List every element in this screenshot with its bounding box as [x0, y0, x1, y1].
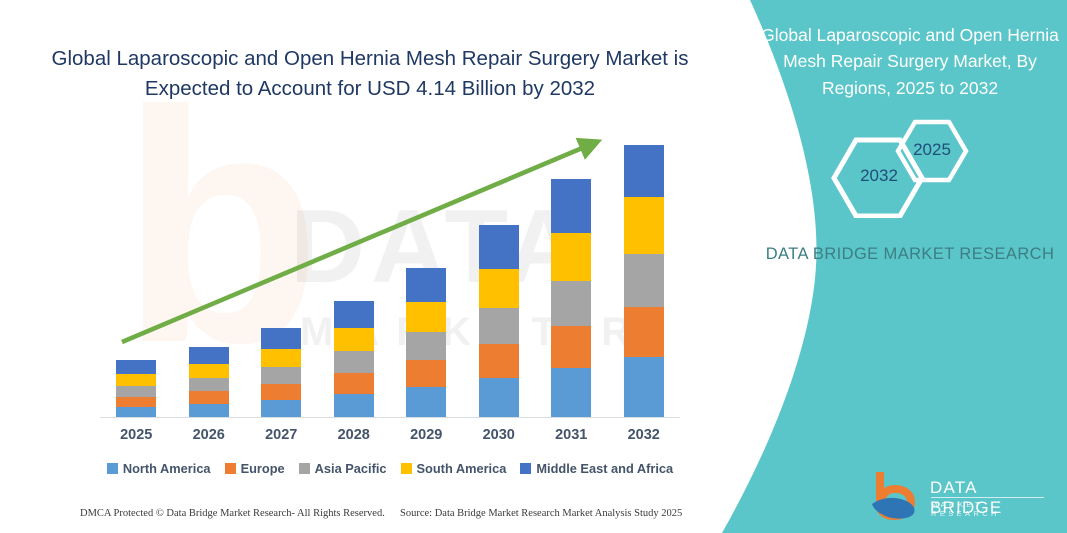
legend-swatch-icon [299, 463, 310, 474]
x-axis-tick-label: 2025 [100, 427, 172, 443]
x-axis-tick-label: 2030 [463, 427, 535, 443]
x-axis-tick-label: 2027 [245, 427, 317, 443]
legend-label: South America [417, 461, 507, 476]
x-axis-tick-label: 2028 [318, 427, 390, 443]
stacked-bar-plot [100, 120, 680, 418]
hexagon-shapes [810, 108, 1020, 218]
x-axis-tick-label: 2026 [173, 427, 245, 443]
legend-item[interactable]: Middle East and Africa [520, 461, 673, 476]
infographic-root: b DATA BRIDGE MARKET RESEARCH Global Lap… [0, 0, 1067, 533]
panel-brand-text: DATA BRIDGE MARKET RESEARCH [760, 242, 1060, 268]
legend-label: Middle East and Africa [536, 461, 673, 476]
hex-label-2025: 2025 [904, 140, 960, 160]
logo-subtitle: MARKET RESEARCH [931, 500, 1048, 518]
hex-label-2032: 2032 [850, 166, 908, 186]
footer-source: Source: Data Bridge Market Research Mark… [400, 508, 682, 519]
growth-arrow [100, 120, 680, 418]
logo-mark-icon [868, 472, 924, 522]
data-bridge-logo: DATA BRIDGE MARKET RESEARCH [868, 472, 1048, 524]
page-title: Global Laparoscopic and Open Hernia Mesh… [50, 44, 690, 103]
legend-swatch-icon [401, 463, 412, 474]
legend-item[interactable]: North America [107, 461, 211, 476]
legend-item[interactable]: Europe [225, 461, 285, 476]
x-axis-tick-label: 2032 [608, 427, 680, 443]
legend-item[interactable]: South America [401, 461, 507, 476]
legend-swatch-icon [225, 463, 236, 474]
legend-label: Europe [241, 461, 285, 476]
legend-item[interactable]: Asia Pacific [299, 461, 387, 476]
legend-swatch-icon [520, 463, 531, 474]
legend-label: Asia Pacific [315, 461, 387, 476]
legend-label: North America [123, 461, 211, 476]
x-axis-tick-label: 2031 [535, 427, 607, 443]
x-axis-tick-label: 2029 [390, 427, 462, 443]
legend-swatch-icon [107, 463, 118, 474]
chart-legend: North AmericaEuropeAsia PacificSouth Ame… [100, 461, 680, 476]
x-axis-labels: 20252026202720282029203020312032 [100, 427, 680, 449]
hexagon-group: 2032 2025 [810, 108, 1020, 218]
footer-copyright: DMCA Protected © Data Bridge Market Rese… [80, 508, 385, 519]
panel-title: Global Laparoscopic and Open Hernia Mesh… [760, 22, 1060, 101]
